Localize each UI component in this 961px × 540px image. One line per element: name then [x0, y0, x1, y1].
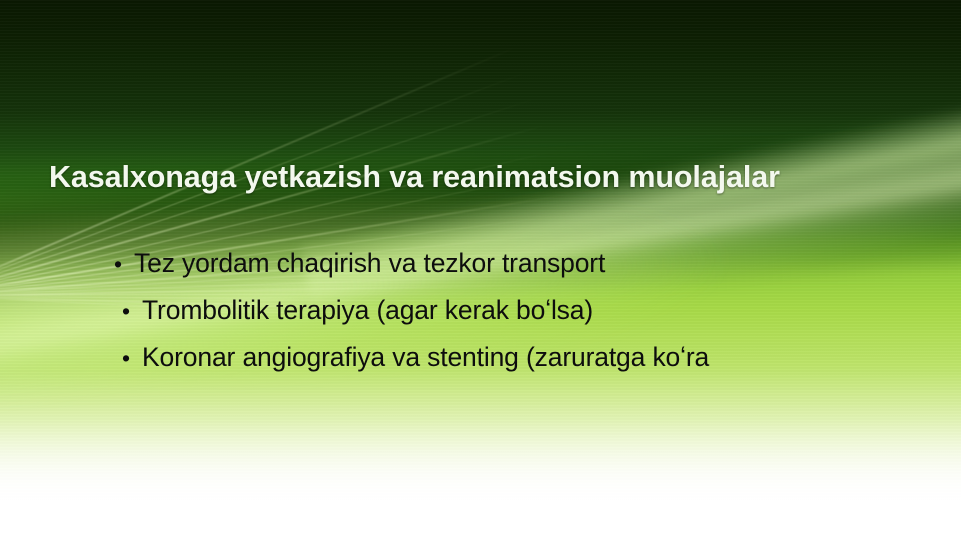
slide-content: Kasalxonaga yetkazish va reanimatsion mu… [0, 0, 961, 540]
bullet-dot-icon: • [114, 253, 134, 276]
list-item-label: Koronar angiografiya va stenting (zarura… [142, 342, 709, 372]
presentation-slide: Kasalxonaga yetkazish va reanimatsion mu… [0, 0, 961, 540]
slide-title: Kasalxonaga yetkazish va reanimatsion mu… [49, 160, 929, 195]
list-item-label: Tez yordam chaqirish va tezkor transport [134, 248, 605, 278]
list-item-label: Trombolitik terapiya (agar kerak boʻlsa) [142, 295, 593, 325]
list-item: •Tez yordam chaqirish va tezkor transpor… [0, 248, 961, 295]
bullet-dot-icon: • [122, 347, 142, 370]
bullet-list: •Tez yordam chaqirish va tezkor transpor… [0, 248, 961, 389]
list-item: •Koronar angiografiya va stenting (zarur… [0, 342, 961, 389]
bullet-dot-icon: • [122, 300, 142, 323]
list-item: •Trombolitik terapiya (agar kerak boʻlsa… [0, 295, 961, 342]
